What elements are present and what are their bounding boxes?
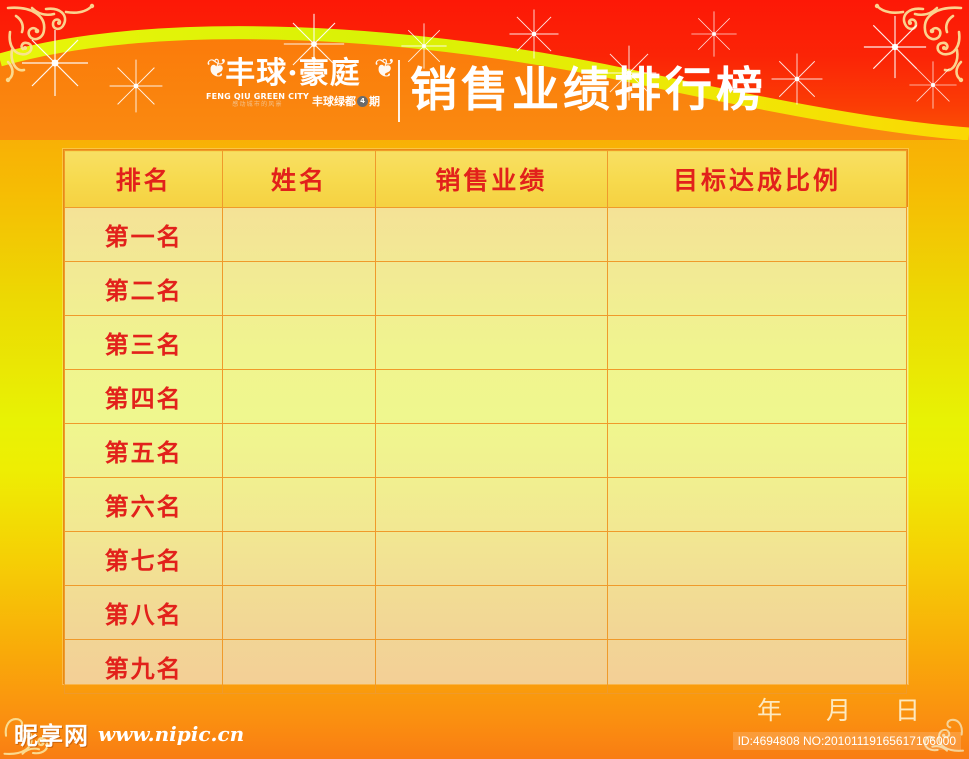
brand-tagline: 感动城市的风景 [206,101,309,108]
cell-target-ratio[interactable] [608,478,907,532]
brand-subline: FENG QIU GREEN CITY 感动城市的风景 丰球绿都4期 [202,93,384,109]
table-row: 第九名 [65,640,907,694]
cell-name[interactable] [223,532,375,586]
cell-name[interactable] [223,478,375,532]
brand-logo: 丰球·豪庭 FENG QIU GREEN CITY 感动城市的风景 丰球绿都4期 [202,58,384,109]
brand-name: 丰球·豪庭 [202,58,384,90]
cell-name[interactable] [223,640,375,694]
project-name-text: 丰球绿都 [312,95,356,108]
brand-english-name: FENG QIU GREEN CITY [206,93,309,102]
column-header-sales: 销售业绩 [375,151,607,208]
cell-sales[interactable] [375,316,607,370]
header-zone: ❦ ❦ 丰球·豪庭 FENG QIU GREEN CITY 感动城市的风景 丰球… [0,0,969,140]
phase-badge: 4 [357,96,368,107]
cell-target-ratio[interactable] [608,262,907,316]
poster-canvas: ❦ ❦ 丰球·豪庭 FENG QIU GREEN CITY 感动城市的风景 丰球… [0,0,969,759]
cell-rank: 第二名 [65,262,223,316]
date-line[interactable]: 年 月 日 [757,691,938,727]
page-title: 销售业绩排行榜 [410,60,767,122]
table-row: 第八名 [65,586,907,640]
image-id-text: ID:4694808 NO:20101119165617106000 [733,732,961,750]
cell-target-ratio[interactable] [608,640,907,694]
cell-sales[interactable] [375,424,607,478]
cell-target-ratio[interactable] [608,316,907,370]
table-row: 第二名 [65,262,907,316]
watermark-url: www.nipic.cn [98,722,244,746]
cell-name[interactable] [223,586,375,640]
ranking-table: 排名 姓名 销售业绩 目标达成比例 第一名 第二名 [64,150,907,694]
table-row: 第六名 [65,478,907,532]
cell-name[interactable] [223,370,375,424]
cell-name[interactable] [223,424,375,478]
cell-rank: 第九名 [65,640,223,694]
table-row: 第七名 [65,532,907,586]
cell-rank: 第六名 [65,478,223,532]
cell-sales[interactable] [375,478,607,532]
column-header-target-ratio: 目标达成比例 [608,151,907,208]
cell-sales[interactable] [375,640,607,694]
column-header-name: 姓名 [223,151,375,208]
cell-sales[interactable] [375,586,607,640]
cell-sales[interactable] [375,208,607,262]
cell-rank: 第一名 [65,208,223,262]
table-row: 第四名 [65,370,907,424]
cell-rank: 第三名 [65,316,223,370]
watermark-brand: 昵享网 [14,716,89,751]
table-head: 排名 姓名 销售业绩 目标达成比例 [65,151,907,208]
table-row: 第五名 [65,424,907,478]
header-divider [398,60,400,122]
cell-sales[interactable] [375,370,607,424]
cell-name[interactable] [223,208,375,262]
cell-target-ratio[interactable] [608,424,907,478]
cell-target-ratio[interactable] [608,208,907,262]
cell-rank: 第四名 [65,370,223,424]
cell-rank: 第五名 [65,424,223,478]
cell-rank: 第七名 [65,532,223,586]
column-header-rank: 排名 [65,151,223,208]
cell-target-ratio[interactable] [608,586,907,640]
cell-target-ratio[interactable] [608,532,907,586]
project-name: 丰球绿都4期 [312,93,380,109]
watermark: 昵享网 www.nipic.cn [14,716,244,751]
cell-name[interactable] [223,262,375,316]
table-row: 第一名 [65,208,907,262]
cell-sales[interactable] [375,532,607,586]
phase-suffix: 期 [369,95,380,108]
table-header-row: 排名 姓名 销售业绩 目标达成比例 [65,151,907,208]
cell-rank: 第八名 [65,586,223,640]
cell-name[interactable] [223,316,375,370]
cell-target-ratio[interactable] [608,370,907,424]
table-body: 第一名 第二名 第三名 第四名 [65,208,907,694]
cell-sales[interactable] [375,262,607,316]
table-row: 第三名 [65,316,907,370]
ranking-table-container: 排名 姓名 销售业绩 目标达成比例 第一名 第二名 [63,149,908,684]
